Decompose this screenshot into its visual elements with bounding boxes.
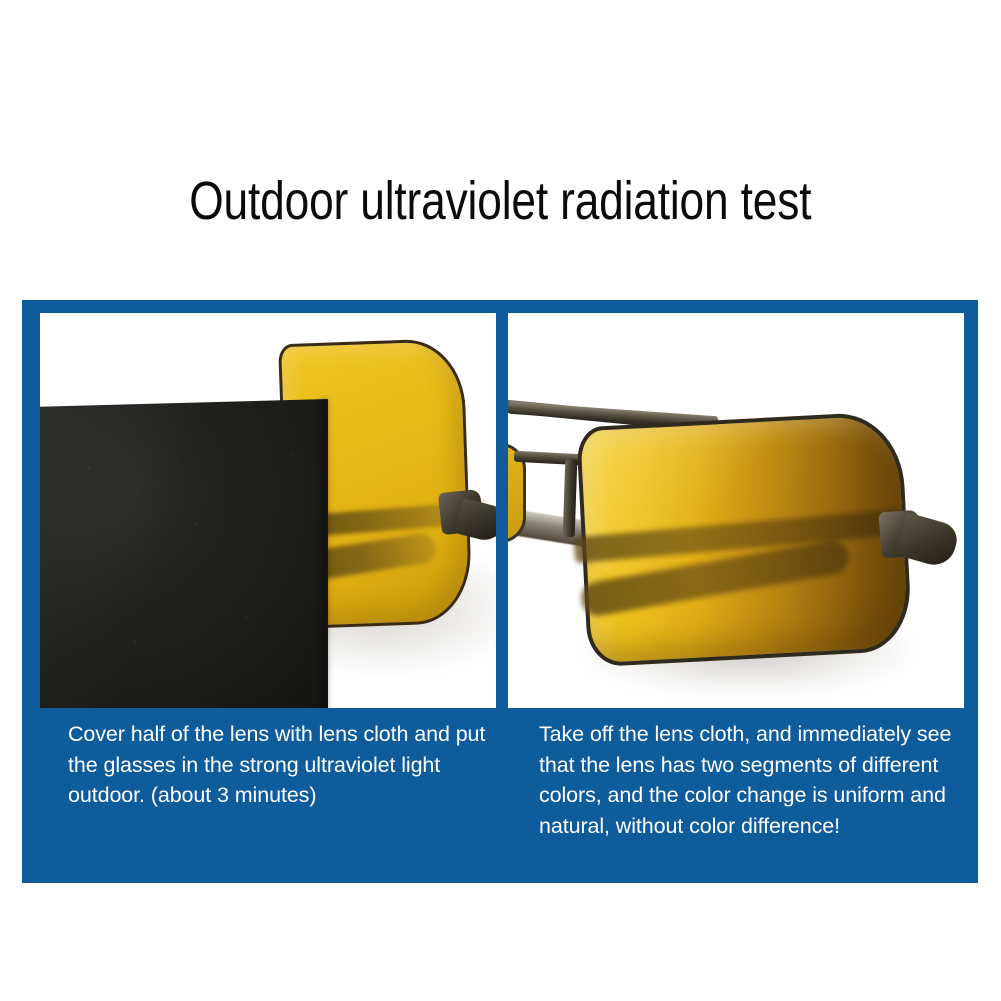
photo-card-before [40, 313, 496, 708]
caption-before: Cover half of the lens with lens cloth a… [68, 719, 488, 811]
page-title-container: Outdoor ultraviolet radiation test [0, 170, 1001, 232]
photo-lens-covered-by-cloth [40, 313, 496, 708]
card-list: Cover half of the lens with lens cloth a… [22, 300, 978, 883]
photo-lens-two-tone [508, 313, 964, 708]
lens-cloth-edge-shadow [322, 399, 330, 708]
caption-after: Take off the lens cloth, and immediately… [539, 719, 959, 841]
photo-card-after [508, 313, 964, 708]
comparison-panel: Cover half of the lens with lens cloth a… [22, 300, 978, 883]
page-title: Outdoor ultraviolet radiation test [189, 170, 811, 232]
lens-cloth-texture [40, 399, 328, 708]
lens-cloth [40, 399, 328, 708]
